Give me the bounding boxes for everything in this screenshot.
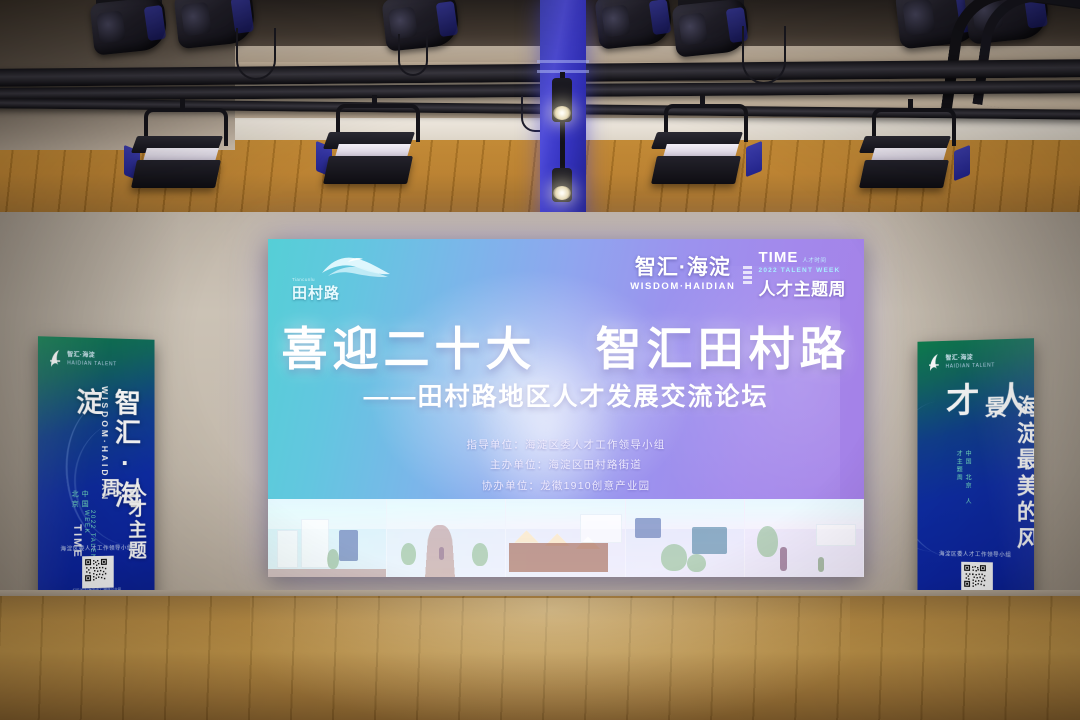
beam-spotlight (552, 78, 572, 122)
time-label: TIME 人才时间 (759, 249, 847, 266)
roll-up-banner-right: 智汇·海淀 HAIDIAN TALENT 人才 海淀最美的风景 中国 北京 人才… (917, 338, 1034, 614)
panel-tree (687, 554, 706, 573)
panel-tree (401, 543, 415, 565)
fresnel-stage-light (856, 108, 964, 194)
screen-surface: Tiancunlu 田村路 智汇·海淀 WISDOM·HAIDIAN TIME … (268, 239, 864, 577)
illustration-panel-garden (745, 499, 864, 577)
panel-figure (780, 547, 787, 570)
panel-signboard (339, 530, 358, 561)
brand-name-cn: 智汇·海淀 (630, 257, 735, 279)
time-small-cn: 人才时间 (802, 256, 826, 264)
banner-sheen (917, 338, 1034, 614)
illustration-panel-plaza (626, 499, 745, 577)
talent-week-en: 2022 TALENT WEEK (759, 267, 847, 274)
panel-tree (661, 544, 687, 571)
organizer-line: 协办单位：龙徽1910创意产业园 (268, 476, 864, 496)
banner-sheen (38, 336, 155, 608)
slide-subtitle: ——田村路地区人才发展交流论坛 (268, 377, 864, 413)
panel-building (301, 519, 329, 568)
roll-up-banner-left: 智汇·海淀 HAIDIAN TALENT 智汇·海淀 WISDOM·HAIDIA… (38, 336, 155, 608)
panel-sky (387, 499, 505, 529)
talent-week-block: TIME 人才时间 2022 TALENT WEEK 人才主题周 (759, 249, 847, 300)
light-lens (96, 10, 126, 43)
panel-wall (509, 543, 608, 573)
brand-block: 智汇·海淀 WISDOM·HAIDIAN (630, 257, 735, 292)
panel-tree (472, 543, 487, 566)
logo-divider (743, 257, 752, 293)
spotlight-glow (553, 106, 571, 120)
panel-tree (327, 549, 339, 569)
title-part-2: 智汇田村路 (596, 324, 851, 375)
panel-figure (439, 547, 444, 559)
fresnel-stage-light (128, 108, 236, 194)
moving-head-light (90, 0, 168, 58)
hanging-cable (742, 26, 786, 84)
fresnel-stage-light (320, 104, 428, 190)
panel-building (580, 514, 622, 543)
panel-roof (511, 530, 542, 542)
illustration-panel-city (268, 499, 387, 577)
beam-spotlight (552, 168, 572, 202)
panel-tree (757, 526, 778, 557)
moving-head-light (595, 0, 673, 52)
barn-door-bottom (651, 156, 741, 184)
organizer-line: 指导单位：海淀区委人才工作领导小组 (268, 435, 864, 455)
mountain-wave-icon (318, 253, 394, 279)
panel-signboard (635, 518, 661, 538)
slide-illustration-strip (268, 499, 864, 577)
barn-door-bottom (323, 156, 413, 184)
organizer-block: 指导单位：海淀区委人才工作领导小组 主办单位：海淀区田村路街道 协办单位：龙徽1… (268, 435, 864, 496)
hanging-cable (398, 34, 428, 76)
panel-figure (818, 557, 824, 573)
illustration-panel-roof (506, 499, 625, 577)
tiancunlu-logo: Tiancunlu 田村路 (290, 253, 400, 301)
time-text: TIME (759, 249, 799, 266)
spotlight-glow (553, 186, 571, 200)
organizer-line: 主办单位：海淀区田村路街道 (268, 455, 864, 475)
brand-name-en: WISDOM·HAIDIAN (630, 281, 735, 292)
wisdom-haidian-logo: 智汇·海淀 WISDOM·HAIDIAN TIME 人才时间 2022 TALE… (630, 249, 846, 300)
panel-signboard (692, 527, 727, 554)
light-lens (180, 2, 211, 37)
light-lens (902, 0, 936, 36)
barn-door-bottom (859, 160, 949, 188)
slide-main-title: 喜迎二十大 智汇田村路 (268, 313, 864, 379)
light-lens (678, 12, 708, 45)
talent-week-cn: 人才主题周 (759, 275, 847, 300)
panel-building (816, 524, 856, 546)
panel-building (277, 530, 298, 568)
light-lens (601, 4, 631, 37)
hanging-cable (236, 28, 276, 80)
barn-door-bottom (131, 160, 221, 188)
floor-light-pool (250, 598, 850, 720)
projection-screen: Tiancunlu 田村路 智汇·海淀 WISDOM·HAIDIAN TIME … (268, 239, 864, 577)
stage-photo: Tiancunlu 田村路 智汇·海淀 WISDOM·HAIDIAN TIME … (0, 0, 1080, 720)
title-part-1: 喜迎二十大 (282, 324, 537, 375)
moving-head-light (672, 0, 750, 60)
tiancunlu-name: 田村路 (292, 282, 340, 303)
illustration-panel-road (387, 499, 506, 577)
panel-road (268, 569, 386, 577)
fresnel-stage-light (648, 104, 756, 190)
